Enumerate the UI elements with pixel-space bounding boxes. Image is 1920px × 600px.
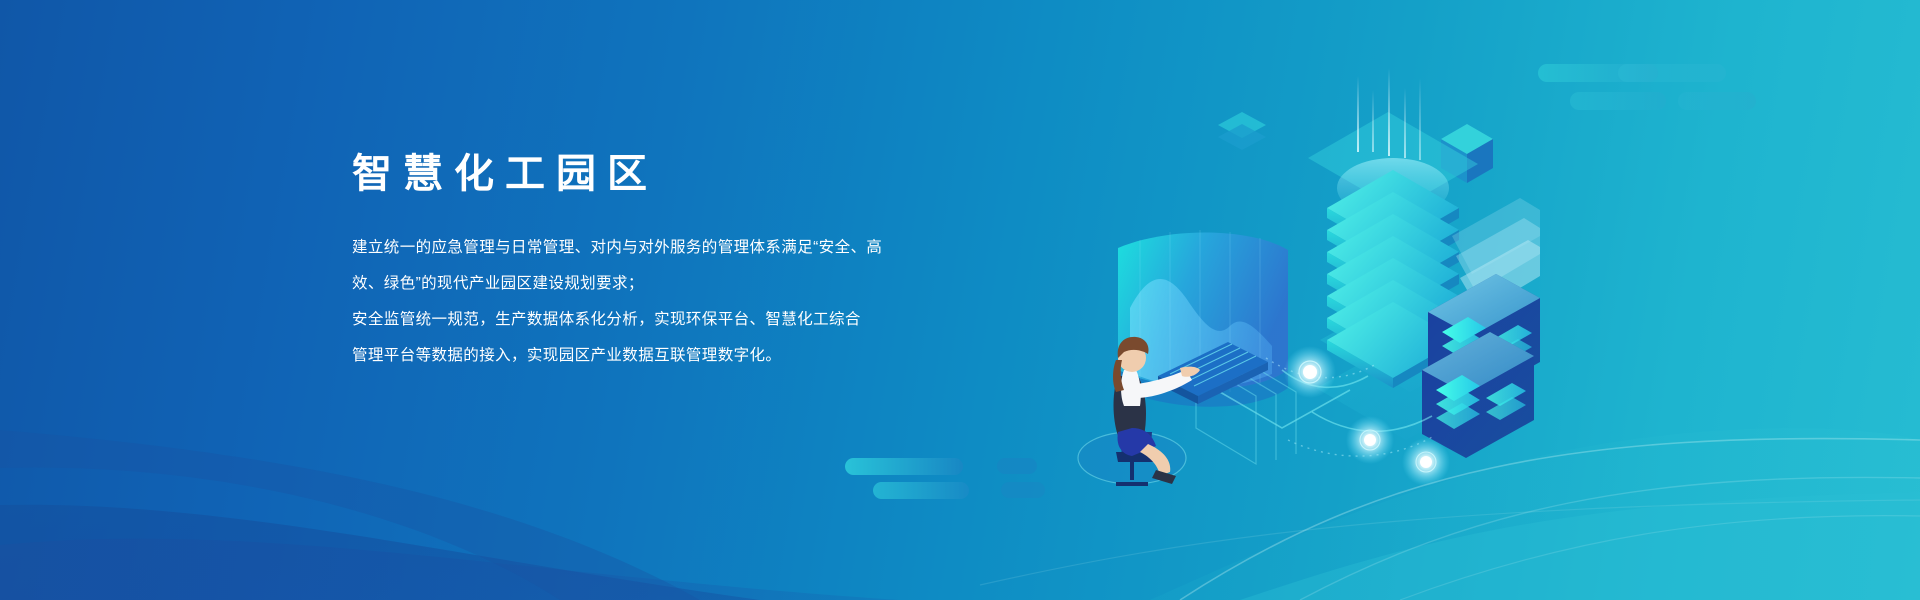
wave-left-sweep — [0, 430, 700, 600]
hero-illustration — [1020, 40, 1540, 500]
wave-bottom-left-2 — [0, 539, 900, 600]
hero-banner: 智慧化工园区 建立统一的应急管理与日常管理、对内与对外服务的管理体系满足“安全、… — [0, 0, 1920, 600]
hero-description: 建立统一的应急管理与日常管理、对内与对外服务的管理体系满足“安全、高 效、绿色”… — [352, 230, 952, 374]
cloud-motif-icon — [1530, 52, 1760, 134]
hero-text-block: 智慧化工园区 建立统一的应急管理与日常管理、对内与对外服务的管理体系满足“安全、… — [352, 150, 952, 374]
description-line: 安全监管统一规范，生产数据体系化分析，实现环保平台、智慧化工综合 — [352, 302, 952, 338]
wave-bottom-left-1 — [0, 505, 760, 600]
floating-cube-small-icon — [1218, 112, 1266, 150]
description-line: 建立统一的应急管理与日常管理、对内与对外服务的管理体系满足“安全、高 — [352, 230, 952, 266]
description-line: 效、绿色”的现代产业园区建设规划要求； — [352, 266, 952, 302]
isometric-data-center-illustration — [1020, 40, 1540, 500]
description-line: 管理平台等数据的接入，实现园区产业数据互联管理数字化。 — [352, 338, 952, 374]
page-title: 智慧化工园区 — [352, 150, 952, 198]
wave-line-3 — [1400, 516, 1920, 600]
wave-line-4 — [980, 500, 1920, 585]
wave-bottom-right-2 — [1240, 492, 1920, 600]
